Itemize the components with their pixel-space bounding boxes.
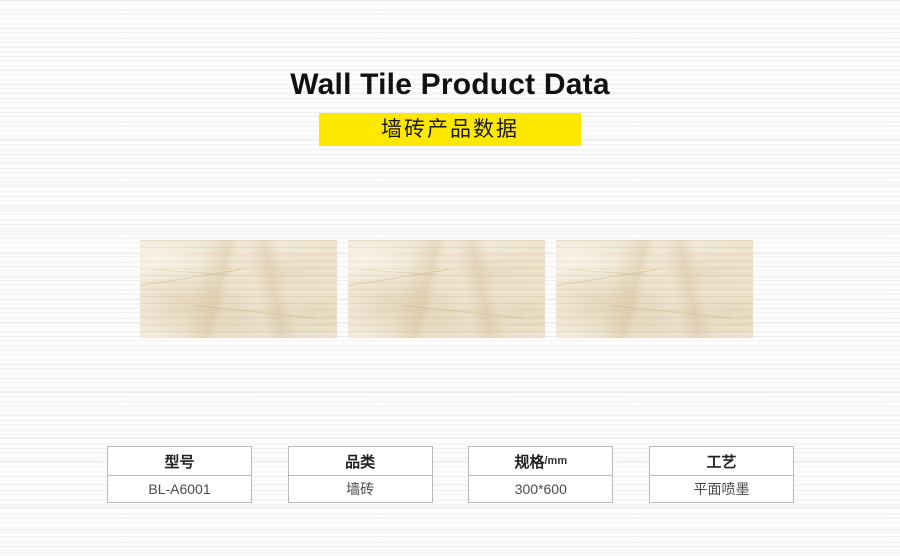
tile-vein-secondary [403, 305, 525, 319]
spec-header-model: 型号 [108, 447, 251, 476]
spec-header-size-unit: /mm [545, 455, 568, 467]
spec-header-category: 品类 [289, 447, 432, 476]
page-heading: Wall Tile Product Data 墙砖产品数据 [0, 66, 900, 146]
spec-value-model: BL-A6001 [108, 476, 251, 502]
spec-column-size: 规格/mm 300*600 [468, 446, 613, 503]
spec-header-model-label: 型号 [164, 451, 194, 472]
page-title-english: Wall Tile Product Data [0, 66, 900, 104]
page-subtitle-container: 墙砖产品数据 [0, 113, 900, 146]
spec-column-model: 型号 BL-A6001 [107, 446, 252, 503]
tile-sample-image-1 [140, 240, 337, 338]
spec-value-category: 墙砖 [289, 476, 432, 502]
spec-header-size: 规格/mm [469, 447, 612, 476]
spec-column-process: 工艺 平面喷墨 [649, 446, 794, 503]
spec-header-size-label: 规格 [514, 451, 544, 472]
spec-header-process-label: 工艺 [706, 451, 736, 472]
product-spec-table: 型号 BL-A6001 品类 墙砖 规格/mm 300*600 工艺 平面喷墨 [107, 446, 794, 504]
spec-header-category-label: 品类 [345, 451, 375, 472]
spec-value-size: 300*600 [469, 476, 612, 502]
tile-sample-image-3 [556, 240, 753, 338]
spec-value-process: 平面喷墨 [650, 476, 793, 502]
tile-sample-gallery [140, 240, 753, 338]
tile-sample-image-2 [348, 240, 545, 338]
tile-vein-secondary [611, 305, 733, 319]
spec-header-process: 工艺 [650, 447, 793, 476]
tile-vein-secondary [195, 305, 317, 319]
page-title-chinese-highlight: 墙砖产品数据 [319, 113, 581, 146]
spec-column-category: 品类 墙砖 [288, 446, 433, 503]
